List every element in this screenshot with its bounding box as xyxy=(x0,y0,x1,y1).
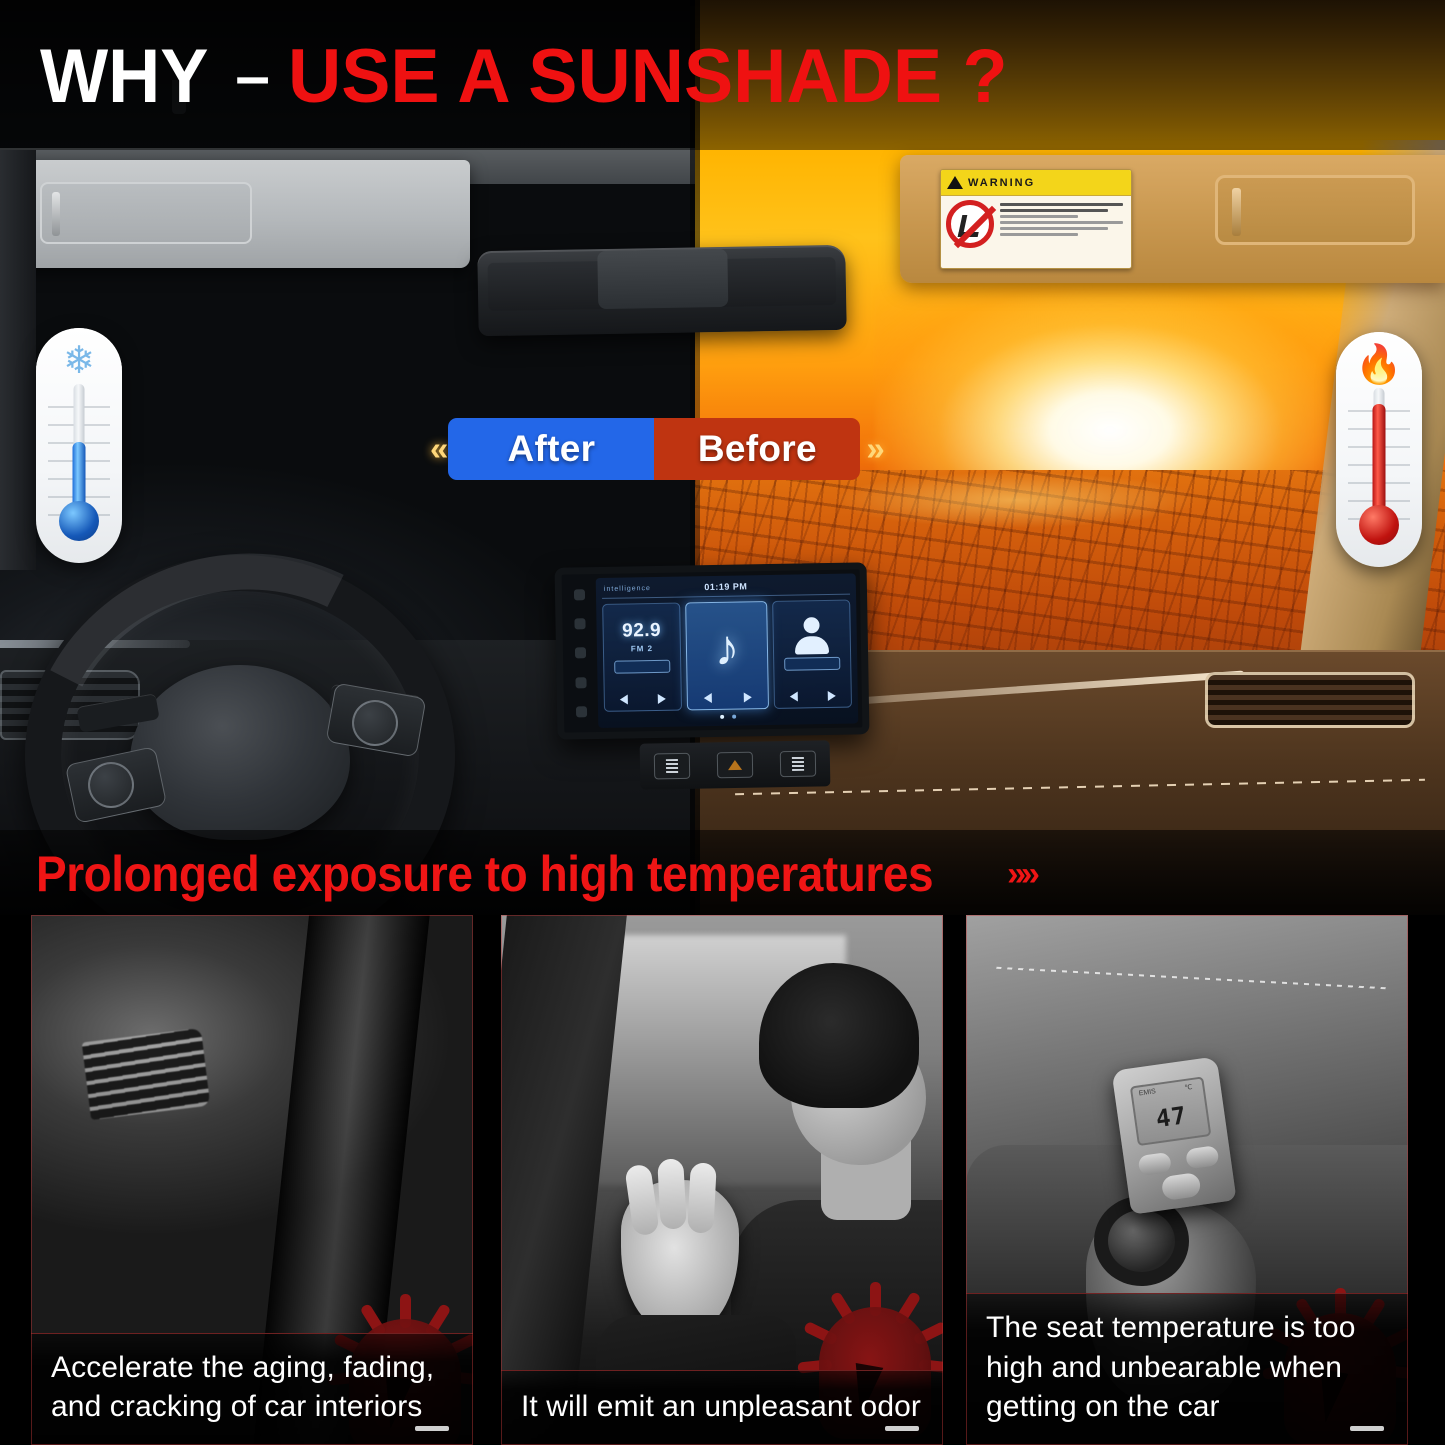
panel-seat-temp: EMIS ℃ 47 The seat temperature is too hi… xyxy=(966,915,1408,1445)
snowflake-icon: ❄ xyxy=(36,342,122,380)
media-card[interactable]: ♪ xyxy=(685,601,769,710)
profile-prev-icon[interactable] xyxy=(790,692,798,702)
profile-nav-controls[interactable] xyxy=(775,691,851,702)
person-icon xyxy=(794,617,829,655)
page-dot-active xyxy=(720,715,724,719)
hazard-light-button[interactable] xyxy=(717,752,753,779)
seat-heater-left-button[interactable] xyxy=(653,753,689,780)
no-child-seat-icon xyxy=(946,200,994,248)
air-vent-right xyxy=(1205,672,1415,728)
hot-thermometer: 🔥 xyxy=(1336,332,1422,567)
steering-knob-right[interactable] xyxy=(352,700,398,746)
rearview-mirror xyxy=(477,245,846,336)
mirror-housing xyxy=(597,249,728,309)
side-button-home[interactable] xyxy=(574,618,585,629)
ir-button-center[interactable] xyxy=(1161,1172,1202,1201)
photo2-finger xyxy=(687,1162,717,1233)
radio-band: FM 2 xyxy=(604,644,680,654)
cold-thermometer: ❄ xyxy=(36,328,122,563)
profile-pill[interactable] xyxy=(784,657,840,671)
page-indicator xyxy=(598,703,858,726)
thermometer-bulb-cold xyxy=(59,501,99,541)
photo2-finger xyxy=(657,1158,687,1229)
side-button-media[interactable] xyxy=(575,677,586,688)
ir-thermometer-lcd: EMIS ℃ 47 xyxy=(1130,1076,1212,1146)
warning-triangle-icon xyxy=(947,176,963,189)
panel-odor: It will emit an unpleasant odor xyxy=(501,915,943,1445)
center-console-controls[interactable] xyxy=(640,740,831,789)
sun-visor-left xyxy=(0,160,470,268)
headline-banner: Prolonged exposure to high temperatures … xyxy=(0,830,1445,918)
flame-icon: 🔥 xyxy=(1336,346,1422,384)
headline-text: Prolonged exposure to high temperatures xyxy=(36,845,933,903)
profile-card[interactable] xyxy=(772,600,852,709)
panel-caption: It will emit an unpleasant odor xyxy=(501,1370,943,1445)
after-badge[interactable]: After xyxy=(448,418,654,480)
page-dot xyxy=(732,715,736,719)
ir-thermometer-reading: 47 xyxy=(1135,1098,1208,1135)
page-title: WHY – USE A SUNSHADE ? xyxy=(40,30,1420,122)
photo1-air-vent xyxy=(82,1028,211,1120)
caption-underscore xyxy=(415,1426,449,1431)
caption-underscore xyxy=(1350,1426,1384,1431)
media-next-icon[interactable] xyxy=(744,692,752,702)
visor-mirror-cover-right xyxy=(1215,175,1415,245)
person-head xyxy=(803,617,819,633)
lcd-label-right: ℃ xyxy=(1184,1083,1193,1092)
warning-label-body xyxy=(941,196,1131,252)
a-pillar-left xyxy=(0,150,36,570)
seek-forward-icon[interactable] xyxy=(658,694,666,704)
chevron-right-icon: » xyxy=(866,430,878,468)
promo-graphic: WARNING xyxy=(0,0,1445,1445)
before-badge[interactable]: Before xyxy=(654,418,860,480)
panel-aging: Accelerate the aging, fading, and cracki… xyxy=(31,915,473,1445)
warning-label-header: WARNING xyxy=(941,170,1131,196)
steering-knob-left[interactable] xyxy=(88,762,134,808)
ir-button-left[interactable] xyxy=(1138,1152,1172,1176)
title-use-a-sunshade: USE A SUNSHADE ? xyxy=(288,33,1008,120)
media-transport-controls[interactable] xyxy=(688,692,768,703)
title-dash: – xyxy=(235,41,269,112)
seat-heater-right-button[interactable] xyxy=(780,751,816,778)
infotainment-screen[interactable]: intelligence 01:19 PM 92.9 FM 2 xyxy=(555,562,870,739)
infotainment-display[interactable]: intelligence 01:19 PM 92.9 FM 2 xyxy=(596,573,859,728)
sun-visor-right: WARNING xyxy=(900,155,1445,283)
headline-chevrons-icon: »» xyxy=(1007,855,1035,894)
benefits-panel-row: Accelerate the aging, fading, and cracki… xyxy=(0,915,1445,1445)
lcd-label-left: EMIS xyxy=(1138,1088,1156,1097)
title-why: WHY xyxy=(40,33,208,120)
panel-caption: The seat temperature is too high and unb… xyxy=(966,1293,1408,1445)
side-button-volume[interactable] xyxy=(574,648,585,659)
after-before-badge-group: « After Before » xyxy=(430,418,940,480)
infotainment-clock: 01:19 PM xyxy=(704,581,747,592)
media-prev-icon[interactable] xyxy=(704,693,712,703)
panel-caption: Accelerate the aging, fading, and cracki… xyxy=(31,1333,473,1445)
radio-preset-pill[interactable] xyxy=(614,660,670,674)
radio-card[interactable]: 92.9 FM 2 xyxy=(602,603,682,712)
radio-seek-controls[interactable] xyxy=(605,694,681,705)
infotainment-side-buttons[interactable] xyxy=(566,580,595,726)
seek-back-icon[interactable] xyxy=(620,694,628,704)
hero-comparison-image: WARNING xyxy=(0,0,1445,915)
infotainment-cards: 92.9 FM 2 ♪ xyxy=(602,600,852,712)
airbag-warning-label: WARNING xyxy=(940,169,1132,269)
infrared-thermometer-gun: EMIS ℃ 47 xyxy=(1111,1056,1236,1214)
warning-text-lines xyxy=(1000,200,1126,248)
photo2-hair xyxy=(759,963,919,1108)
infotainment-brand: intelligence xyxy=(604,585,651,593)
side-button-power[interactable] xyxy=(573,589,584,600)
caption-underscore xyxy=(885,1426,919,1431)
chevron-left-icon: « xyxy=(430,430,442,468)
child-seat-glyph xyxy=(958,215,983,237)
photo-man-in-hot-car xyxy=(501,915,943,1445)
visor-mirror-cover xyxy=(40,182,252,244)
thermometer-bulb-hot xyxy=(1359,505,1399,545)
side-button-menu[interactable] xyxy=(575,706,586,717)
music-note-icon: ♪ xyxy=(687,622,768,673)
thermometer-mercury-hot xyxy=(1373,404,1386,520)
profile-next-icon[interactable] xyxy=(828,691,836,701)
ir-button-right[interactable] xyxy=(1185,1145,1219,1169)
person-body xyxy=(795,636,829,655)
warning-heading: WARNING xyxy=(968,177,1035,189)
radio-frequency: 92.9 xyxy=(603,620,679,643)
